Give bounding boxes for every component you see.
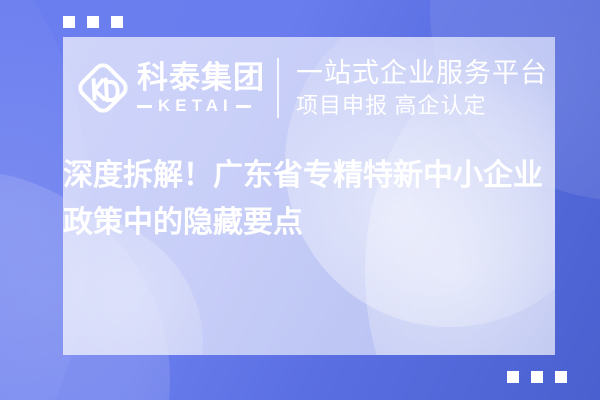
ketai-diamond-kd-monogram-icon [75, 60, 131, 116]
tagline-sub: 项目申报 高企认定 [296, 92, 548, 120]
brand-wordmark: 科泰集团 KETAI [137, 61, 265, 115]
decorative-square-icon [87, 16, 99, 28]
brand-name-en-row: KETAI [137, 97, 265, 115]
decorative-dots-top-left [63, 16, 123, 28]
wordmark-rule-left [137, 105, 152, 108]
tagline-main: 一站式企业服务平台 [296, 57, 548, 90]
brand-name-cn: 科泰集团 [137, 61, 265, 95]
brand-header: 科泰集团 KETAI 一站式企业服务平台 项目申报 高企认定 [63, 37, 555, 139]
banner-card: 科泰集团 KETAI 一站式企业服务平台 项目申报 高企认定 深度拆解！广东省专… [63, 37, 555, 355]
brand-name-en: KETAI [158, 97, 233, 115]
tagline-block: 一站式企业服务平台 项目申报 高企认定 [296, 57, 548, 120]
wordmark-rule-right [236, 105, 251, 108]
decorative-square-icon [63, 16, 75, 28]
decorative-square-icon [111, 16, 123, 28]
decorative-square-icon [531, 371, 543, 383]
header-divider [277, 58, 279, 118]
decorative-square-icon [555, 371, 567, 383]
headline-title: 深度拆解！广东省专精特新中小企业政策中的隐藏要点 [63, 152, 555, 246]
promo-banner: 科泰集团 KETAI 一站式企业服务平台 项目申报 高企认定 深度拆解！广东省专… [0, 0, 600, 400]
brand-logo: 科泰集团 KETAI [75, 54, 265, 122]
decorative-dots-bottom-right [507, 371, 567, 383]
decorative-square-icon [507, 371, 519, 383]
